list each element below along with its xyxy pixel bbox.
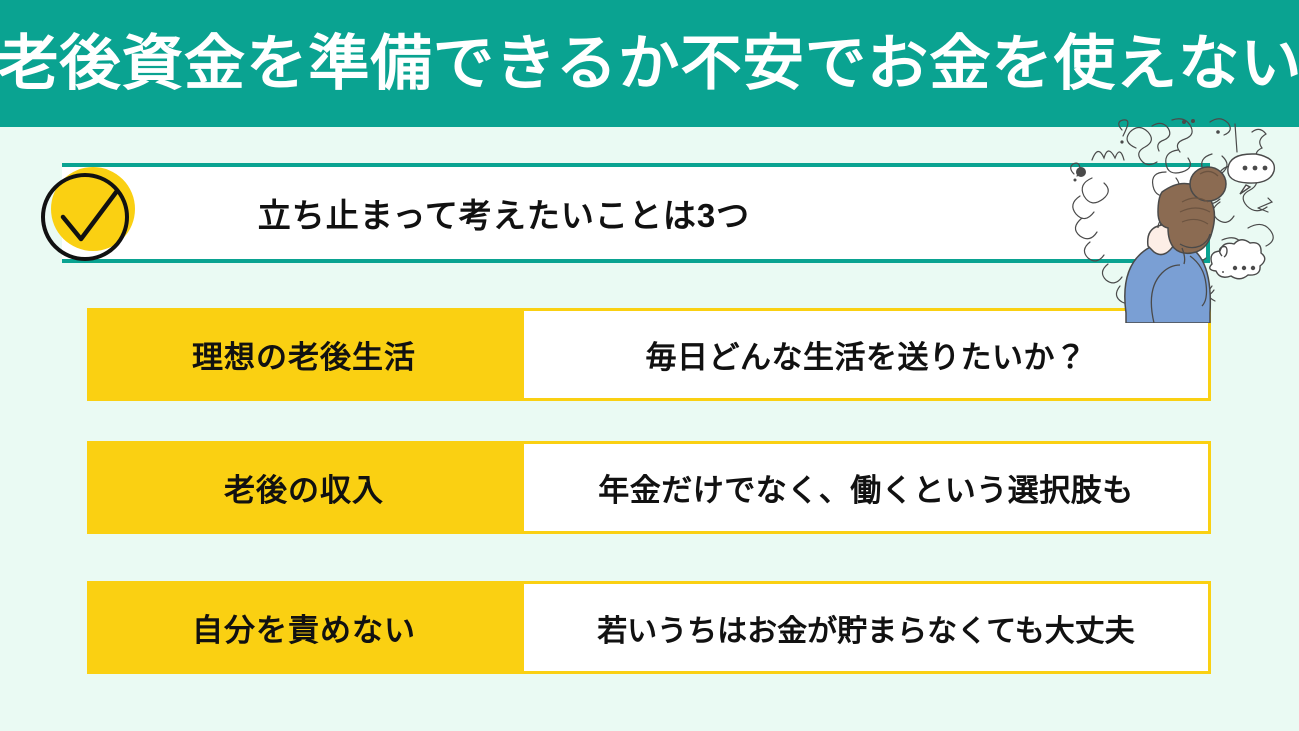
row-value-text: 年金だけでなく、働くという選択肢も xyxy=(598,465,1134,510)
row-value-text: 若いうちはお金が貯まらなくても大丈夫 xyxy=(597,606,1135,650)
content-rows: 理想の老後生活 毎日どんな生活を送りたいか？ 老後の収入 年金だけでなく、働くと… xyxy=(0,0,1299,731)
table-row: 老後の収入 年金だけでなく、働くという選択肢も xyxy=(87,441,1211,534)
subtitle-box: 立ち止まって考えたいことは3つ xyxy=(62,163,1210,263)
row-value-text: 毎日どんな生活を送りたいか？ xyxy=(646,332,1087,377)
row-label-text: 自分を責めない xyxy=(192,605,416,650)
row-label-text: 老後の収入 xyxy=(224,465,384,510)
check-circle-icon xyxy=(41,165,137,261)
row-value-cell: 若いうちはお金が貯まらなくても大丈夫 xyxy=(521,581,1211,674)
row-label-cell: 自分を責めない xyxy=(87,581,521,674)
row-label-text: 理想の老後生活 xyxy=(192,332,416,377)
table-row: 自分を責めない 若いうちはお金が貯まらなくても大丈夫 xyxy=(87,581,1211,674)
row-label-cell: 理想の老後生活 xyxy=(87,308,521,401)
subtitle-text: 立ち止まって考えたいことは3つ xyxy=(258,189,1010,237)
row-value-cell: 毎日どんな生活を送りたいか？ xyxy=(521,308,1211,401)
row-label-cell: 老後の収入 xyxy=(87,441,521,534)
row-value-cell: 年金だけでなく、働くという選択肢も xyxy=(521,441,1211,534)
table-row: 理想の老後生活 毎日どんな生活を送りたいか？ xyxy=(87,308,1211,401)
